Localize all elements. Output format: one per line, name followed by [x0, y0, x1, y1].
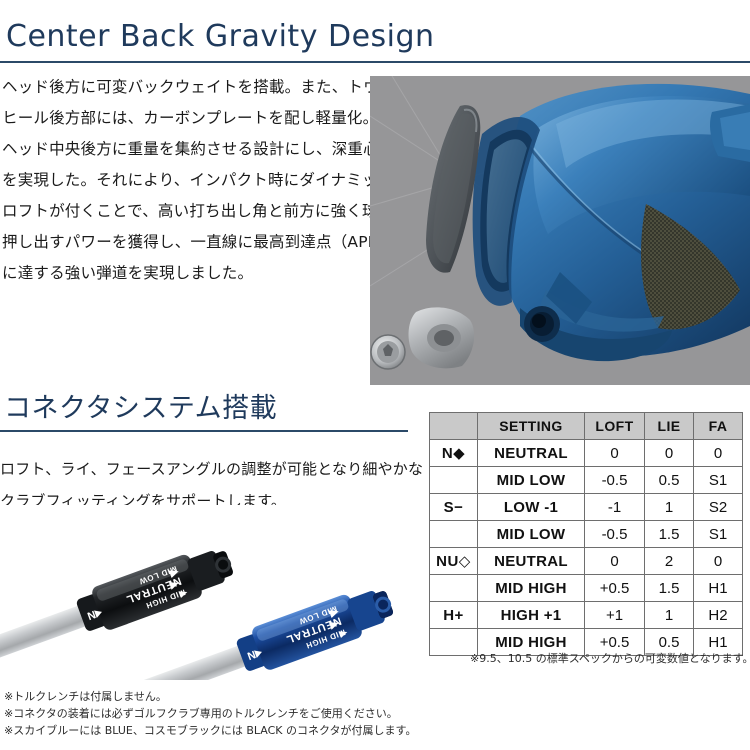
gravity-body-line: を実現した。それにより、インパクト時にダイナミック	[2, 165, 366, 196]
cell-setting: NEUTRAL	[478, 548, 585, 575]
column-header-setting: SETTING	[478, 413, 585, 440]
table-header-row: SETTING LOFT LIE FA	[430, 413, 743, 440]
cell-code	[430, 467, 478, 494]
cell-code: H+	[430, 602, 478, 629]
cell-loft: 0	[585, 548, 645, 575]
table-row: S− LOW -1 -1 1 S2	[430, 494, 743, 521]
table-row: MID LOW -0.5 1.5 S1	[430, 521, 743, 548]
table-row: H+ HIGH +1 +1 1 H2	[430, 602, 743, 629]
cell-loft: +1	[585, 602, 645, 629]
cell-lie: 0	[645, 440, 694, 467]
cell-lie: 1	[645, 602, 694, 629]
cell-code: N◆	[430, 440, 478, 467]
spec-table-note: ※9.5、10.5 の標準スペックからの可変数値となります。	[470, 650, 750, 666]
cell-fa: H1	[694, 575, 743, 602]
gravity-body-line: ヘッド中央後方に重量を集約させる設計にし、深重心化	[2, 134, 366, 165]
cell-code: NU◇	[430, 548, 478, 575]
cell-lie: 1.5	[645, 521, 694, 548]
gravity-heading-divider	[0, 61, 750, 63]
cell-setting: MID LOW	[478, 467, 585, 494]
cell-fa: S1	[694, 467, 743, 494]
cell-code	[430, 521, 478, 548]
cell-fa: H2	[694, 602, 743, 629]
footnotes-block: ※トルクレンチは付属しません。 ※コネクタの装着には必ずゴルフクラブ専用のトルク…	[4, 688, 416, 739]
gravity-body-line: ヘッド後方に可変バックウェイトを搭載。また、トウ・	[2, 72, 366, 103]
cell-fa: 0	[694, 440, 743, 467]
cell-fa: S2	[694, 494, 743, 521]
footnote-item: ※トルクレンチは付属しません。	[4, 688, 416, 705]
gravity-section-heading: Center Back Gravity Design	[6, 20, 435, 54]
cell-loft: -0.5	[585, 521, 645, 548]
cell-loft: -0.5	[585, 467, 645, 494]
cell-lie: 0.5	[645, 467, 694, 494]
gravity-body-line: ヒール後方部には、カーボンプレートを配し軽量化。	[2, 103, 366, 134]
gravity-body-line: 押し出すパワーを獲得し、一直線に最高到達点（APEX）	[2, 227, 366, 258]
cell-setting: LOW -1	[478, 494, 585, 521]
cell-code: S−	[430, 494, 478, 521]
column-header-fa: FA	[694, 413, 743, 440]
gravity-body-line: に達する強い弾道を実現しました。	[2, 258, 366, 289]
column-header-loft: LOFT	[585, 413, 645, 440]
product-feature-page: Center Back Gravity Design ヘッド後方に可変バックウェ…	[0, 0, 750, 750]
cell-lie: 2	[645, 548, 694, 575]
cell-lie: 1	[645, 494, 694, 521]
driver-head-illustration	[370, 76, 750, 385]
table-row: MID LOW -0.5 0.5 S1	[430, 467, 743, 494]
cell-loft: -1	[585, 494, 645, 521]
adjustment-spec-table: SETTING LOFT LIE FA N◆ NEUTRAL 0 0 0 MID…	[429, 412, 743, 656]
cell-fa: 0	[694, 548, 743, 575]
cell-loft: 0	[585, 440, 645, 467]
table-row: N◆ NEUTRAL 0 0 0	[430, 440, 743, 467]
cell-lie: 1.5	[645, 575, 694, 602]
connector-sleeves-illustration: MID HIGH NEUTRAL MID LOW N	[0, 505, 420, 680]
column-header-code	[430, 413, 478, 440]
connector-body-line: ロフト、ライ、フェースアングルの調整が可能となり細やかな	[0, 453, 400, 485]
cell-setting: NEUTRAL	[478, 440, 585, 467]
cell-setting: MID HIGH	[478, 575, 585, 602]
cell-loft: +0.5	[585, 575, 645, 602]
cell-fa: S1	[694, 521, 743, 548]
driver-head-product-image	[370, 76, 750, 385]
table-row: NU◇ NEUTRAL 0 2 0	[430, 548, 743, 575]
cell-code	[430, 575, 478, 602]
connector-sleeves-image: MID HIGH NEUTRAL MID LOW N	[0, 505, 420, 680]
connector-section-heading: コネクタシステム搭載	[4, 392, 277, 424]
gravity-section-body: ヘッド後方に可変バックウェイトを搭載。また、トウ・ ヒール後方部には、カーボンプ…	[2, 72, 366, 289]
footnote-item: ※コネクタの装着には必ずゴルフクラブ専用のトルクレンチをご使用ください。	[4, 705, 416, 722]
connector-heading-divider	[0, 430, 408, 432]
table-row: MID HIGH +0.5 1.5 H1	[430, 575, 743, 602]
gravity-body-line: ロフトが付くことで、高い打ち出し角と前方に強く球を	[2, 196, 366, 227]
cell-setting: HIGH +1	[478, 602, 585, 629]
cell-setting: MID LOW	[478, 521, 585, 548]
footnote-item: ※スカイブルーには BLUE、コスモブラックには BLACK のコネクタが付属し…	[4, 722, 416, 739]
column-header-lie: LIE	[645, 413, 694, 440]
